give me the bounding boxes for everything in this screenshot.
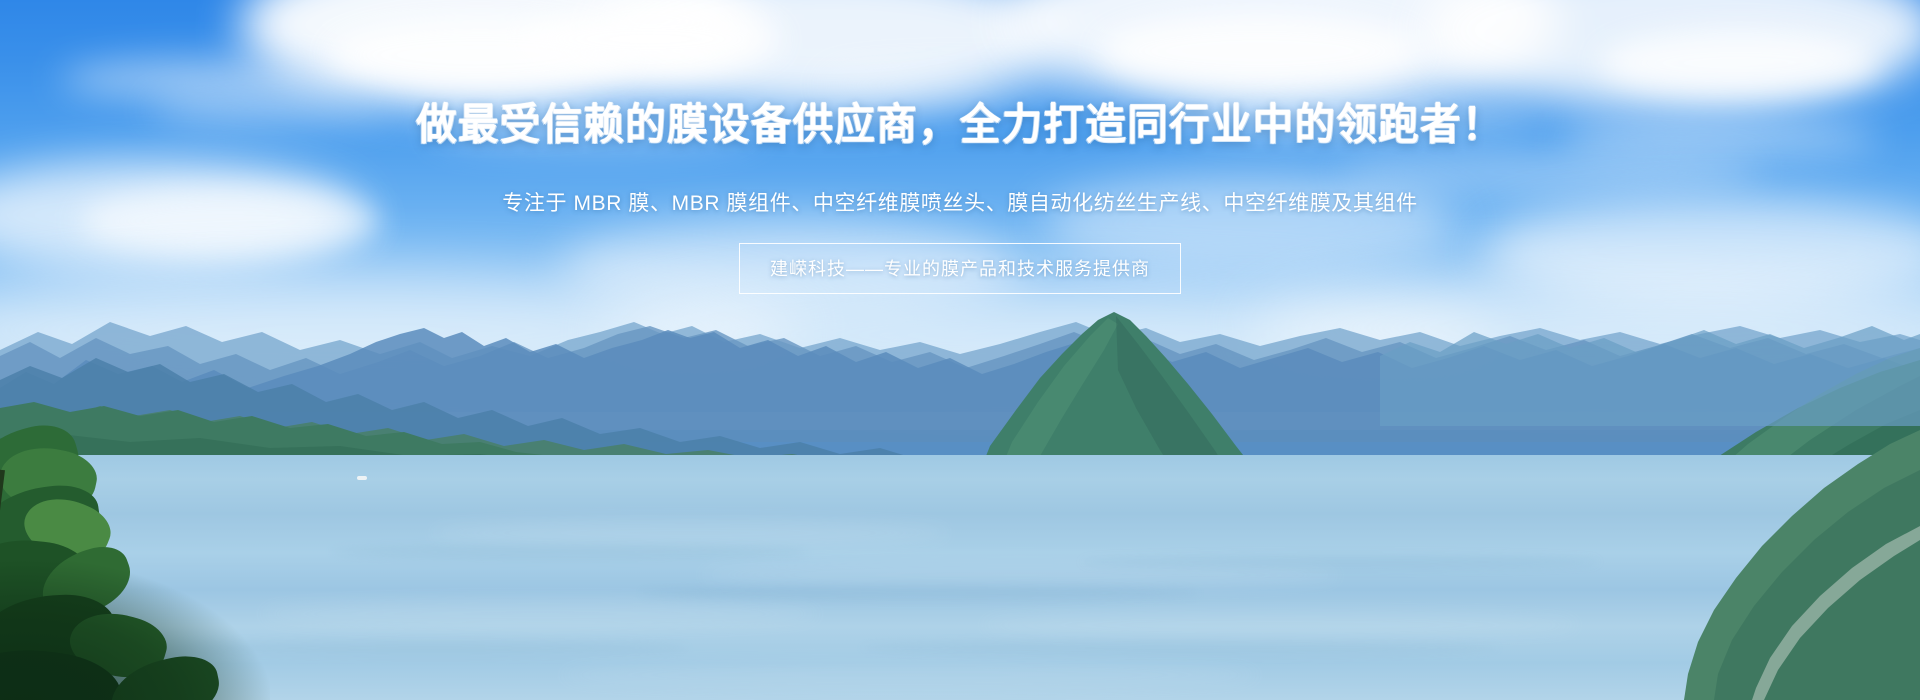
cloud	[1600, 30, 1880, 96]
cloud	[1040, 176, 1460, 272]
cloud-wisp	[150, 92, 390, 126]
hero-banner: 做最受信赖的膜设备供应商，全力打造同行业中的领跑者！ 专注于 MBR 膜、MBR…	[0, 0, 1920, 700]
boat	[357, 476, 367, 480]
water-glint	[260, 600, 820, 628]
water-ripple	[330, 545, 810, 559]
shore-right	[1420, 430, 1920, 700]
cloud	[80, 186, 380, 256]
water-ripple	[640, 585, 1200, 601]
water-glint	[560, 660, 1260, 690]
water-glint	[430, 520, 950, 546]
water-ripple	[860, 640, 1500, 656]
water-ripple	[170, 640, 690, 656]
cloud-wisp	[820, 70, 1100, 100]
cloud-wisp	[1180, 96, 1540, 136]
cloud-wisp	[1340, 150, 1760, 194]
ridge-right-distant	[1380, 296, 1920, 426]
cloud-wisp	[430, 112, 760, 148]
cloud	[520, 8, 780, 70]
cloud	[1100, 14, 1420, 88]
